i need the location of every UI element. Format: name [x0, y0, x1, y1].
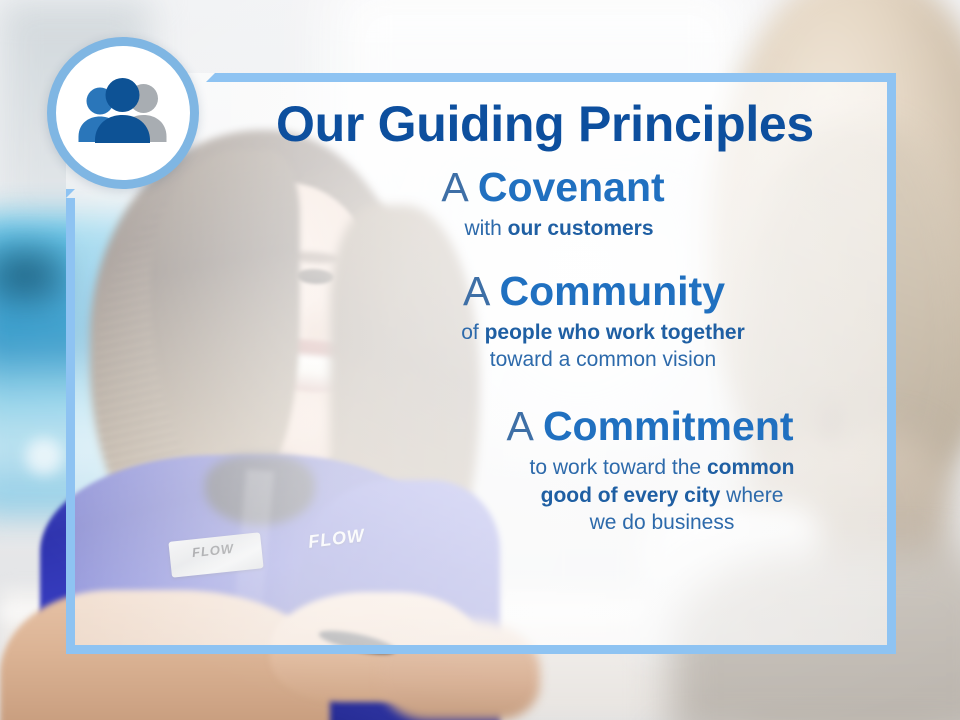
principle-subtext: with our customers — [215, 215, 875, 243]
guiding-principles-banner: FLOW FLOW — [0, 0, 960, 720]
people-group-icon-badge — [47, 37, 199, 189]
blurred-car-shadow — [0, 230, 70, 320]
people-group-icon — [73, 76, 173, 150]
principle-covenant: A Covenant with our customers — [215, 165, 875, 243]
principle-keyword: Community — [500, 268, 726, 314]
principle-commitment: A Commitment to work toward the commongo… — [215, 404, 875, 537]
blurred-vehicle-emblem — [8, 425, 98, 495]
principle-article: A — [463, 268, 488, 314]
principle-article: A — [506, 403, 531, 449]
principle-article: A — [441, 164, 466, 210]
principles-text-block: Our Guiding Principles A Covenant with o… — [215, 82, 875, 537]
principle-keyword: Commitment — [543, 403, 794, 449]
page-title: Our Guiding Principles — [215, 98, 875, 151]
principle-heading: A Community — [215, 269, 875, 315]
principle-heading: A Commitment — [215, 404, 875, 450]
principle-keyword: Covenant — [478, 164, 665, 210]
customer-hands — [380, 620, 540, 720]
principle-community: A Community of people who work togethert… — [215, 269, 875, 374]
principle-subtext: of people who work togethertoward a comm… — [215, 319, 875, 374]
principle-heading: A Covenant — [215, 165, 875, 211]
principle-subtext: to work toward the commongood of every c… — [215, 454, 875, 537]
